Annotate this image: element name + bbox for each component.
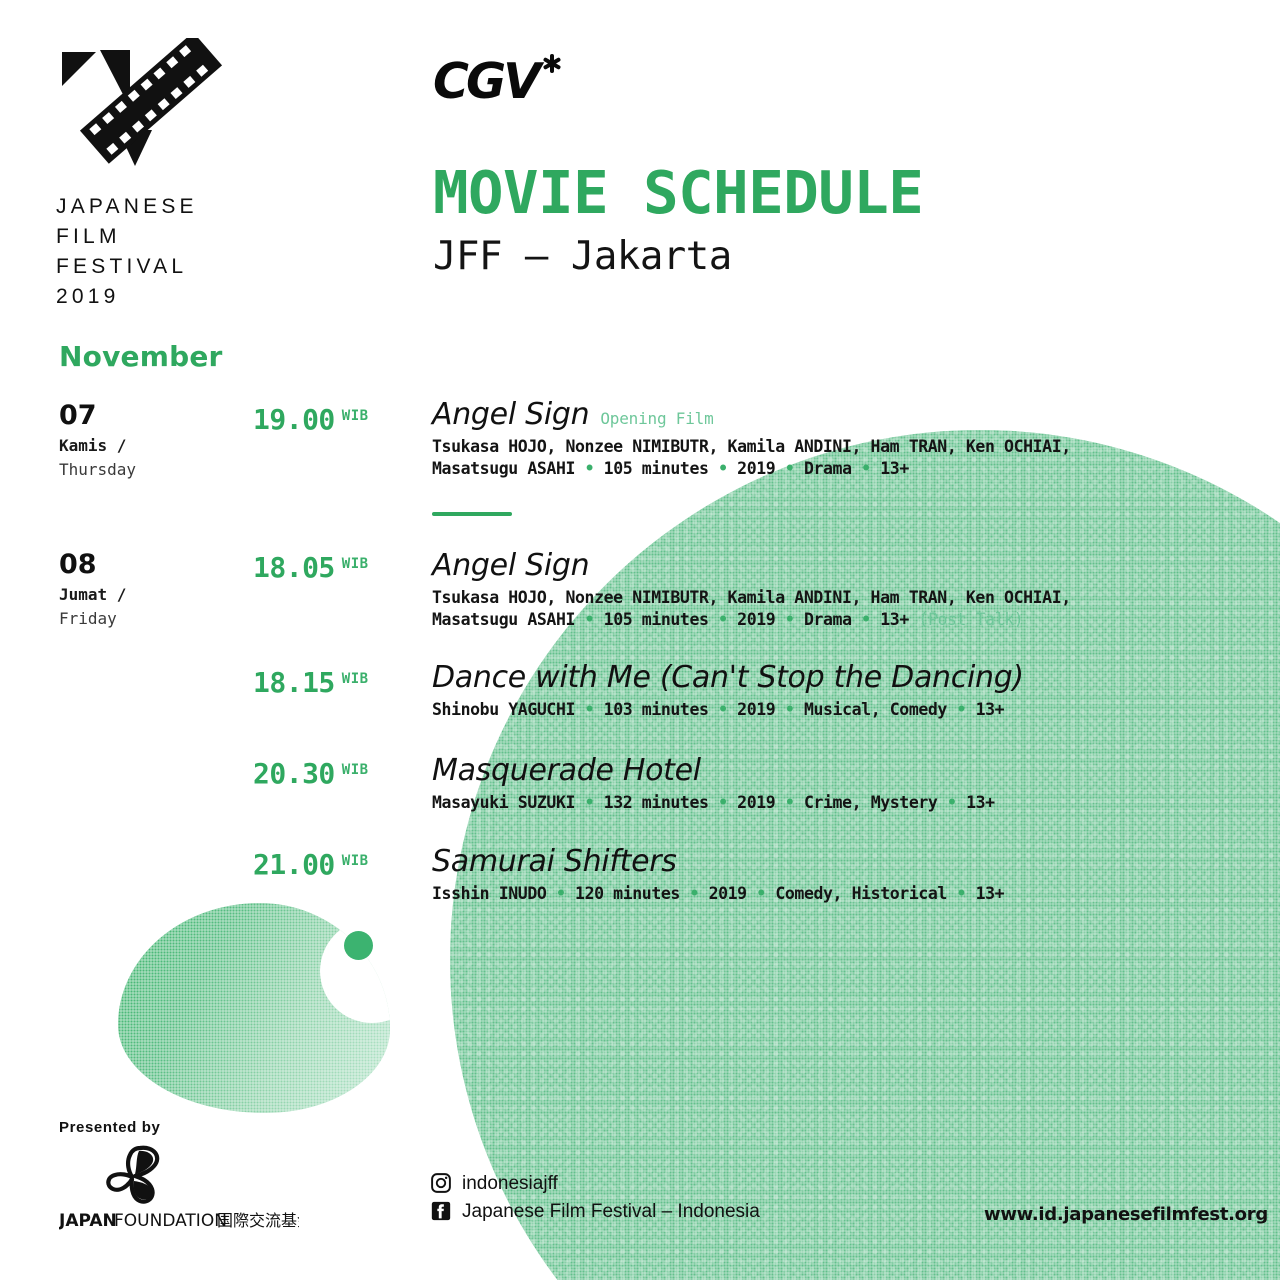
- screening-entry-08-1: Angel Sign Tsukasa HOJO, Nonzee NIMIBUTR…: [432, 549, 1072, 632]
- svg-text:JAPAN: JAPAN: [59, 1211, 117, 1231]
- screening-entry-08-2: Dance with Me (Can't Stop the Dancing) S…: [432, 661, 1072, 721]
- svg-text:CGV: CGV: [433, 53, 545, 110]
- film-meta-genre: Crime, Mystery: [804, 793, 937, 812]
- social-links: indonesiajff Japanese Film Festival – In…: [430, 1172, 760, 1228]
- japan-foundation-logo: JAPAN FOUNDATION 国際交流基金: [59, 1145, 299, 1231]
- japan-foundation-wordmark: JAPAN FOUNDATION 国際交流基金: [59, 1209, 299, 1231]
- month-heading: November: [59, 340, 223, 373]
- timezone-label: WIB: [342, 556, 369, 572]
- screening-entry-07-1: Angel SignOpening Film Tsukasa HOJO, Non…: [432, 398, 1072, 481]
- film-meta-duration: 105 minutes: [604, 459, 709, 478]
- instagram-handle[interactable]: indonesiajff: [462, 1174, 558, 1193]
- film-meta-genre: Drama: [804, 610, 852, 629]
- timezone-label: WIB: [342, 408, 369, 424]
- film-title: Masquerade Hotel: [432, 753, 701, 788]
- screening-time-08-1: 18.05WIB: [253, 551, 369, 584]
- website-url[interactable]: www.id.japanesefilmfest.org: [984, 1204, 1268, 1225]
- film-note-post-talk: (Post Talk): [918, 610, 1023, 629]
- meta-separator: •: [785, 459, 795, 478]
- film-credits-line: Tsukasa HOJO, Nonzee NIMIBUTR, Kamila AN…: [432, 436, 1072, 482]
- facebook-row[interactable]: Japanese Film Festival – Indonesia: [430, 1200, 760, 1222]
- instagram-icon[interactable]: [430, 1172, 452, 1194]
- meta-separator: •: [718, 793, 728, 812]
- day-block-08: 08 Jumat / Friday: [59, 551, 126, 631]
- meta-separator: •: [585, 793, 595, 812]
- meta-separator: •: [556, 884, 566, 903]
- film-meta-rating: 13+: [880, 459, 909, 478]
- meta-separator: •: [785, 793, 795, 812]
- time-value: 18.05: [253, 551, 335, 584]
- cgv-logo-icon: CGV: [433, 50, 567, 114]
- meta-separator: •: [585, 610, 595, 629]
- meta-separator: •: [861, 459, 871, 478]
- meta-separator: •: [689, 884, 699, 903]
- film-credits-line: Masayuki SUZUKI • 132 minutes • 2019 • C…: [432, 792, 1072, 815]
- meta-separator: •: [785, 610, 795, 629]
- page-title: MOVIE SCHEDULE: [433, 163, 923, 222]
- film-meta-duration: 105 minutes: [604, 610, 709, 629]
- time-value: 20.30: [253, 757, 335, 790]
- day-divider: [432, 512, 512, 516]
- page-subtitle: JFF – Jakarta: [433, 236, 732, 279]
- meta-separator: •: [785, 700, 795, 719]
- meta-separator: •: [957, 700, 967, 719]
- screening-time-08-3: 20.30WIB: [253, 757, 369, 790]
- film-meta-genre: Comedy, Historical: [775, 884, 947, 903]
- meta-separator: •: [947, 793, 957, 812]
- logo-line-festival: FESTIVAL: [56, 252, 286, 282]
- meta-separator: •: [718, 610, 728, 629]
- screening-entry-08-3: Masquerade Hotel Masayuki SUZUKI • 132 m…: [432, 754, 1072, 814]
- film-meta-director: Isshin INUDO: [432, 884, 546, 903]
- meta-separator: •: [861, 610, 871, 629]
- meta-separator: •: [957, 884, 967, 903]
- film-meta-year: 2019: [737, 793, 775, 812]
- film-meta-director: Masayuki SUZUKI: [432, 793, 575, 812]
- presented-by-label: Presented by: [59, 1119, 160, 1136]
- meta-separator: •: [718, 700, 728, 719]
- film-credits: Tsukasa HOJO, Nonzee NIMIBUTR, Kamila AN…: [432, 437, 1071, 456]
- instagram-row[interactable]: indonesiajff: [430, 1172, 760, 1194]
- film-title: Samurai Shifters: [432, 844, 677, 879]
- film-title: Dance with Me (Can't Stop the Dancing): [432, 660, 1024, 695]
- logo-line-year: 2019: [56, 282, 286, 312]
- screening-time-07-1: 19.00WIB: [253, 403, 369, 436]
- day-name-local: Kamis /: [59, 434, 136, 458]
- logo-line-film: FILM: [56, 222, 286, 252]
- meta-separator: •: [756, 884, 766, 903]
- time-value: 19.00: [253, 403, 335, 436]
- timezone-label: WIB: [342, 853, 369, 869]
- svg-text:国際交流基金: 国際交流基金: [217, 1211, 299, 1230]
- film-credits-line: Isshin INUDO • 120 minutes • 2019 • Come…: [432, 883, 1072, 906]
- time-value: 18.15: [253, 666, 335, 699]
- film-meta-rating: 13+: [880, 610, 909, 629]
- screening-time-08-4: 21.00WIB: [253, 848, 369, 881]
- meta-separator: •: [718, 459, 728, 478]
- film-title: Angel Sign: [432, 397, 589, 432]
- film-meta-rating: 13+: [976, 884, 1005, 903]
- origami-crane-film-strip-icon: [56, 38, 226, 166]
- festival-logo-wordmark: JAPANESE FILM FESTIVAL 2019: [56, 192, 286, 312]
- facebook-icon[interactable]: [430, 1200, 452, 1222]
- day-name-english: Friday: [59, 607, 126, 630]
- film-meta-director: Masatsugu ASAHI: [432, 610, 575, 629]
- film-meta-duration: 132 minutes: [604, 793, 709, 812]
- film-meta-year: 2019: [709, 884, 747, 903]
- film-title: Angel Sign: [432, 548, 589, 583]
- film-meta-rating: 13+: [976, 700, 1005, 719]
- time-value: 21.00: [253, 848, 335, 881]
- screening-time-08-2: 18.15WIB: [253, 666, 369, 699]
- film-meta-year: 2019: [737, 610, 775, 629]
- day-name-local: Jumat /: [59, 583, 126, 607]
- timezone-label: WIB: [342, 762, 369, 778]
- film-meta-genre: Musical, Comedy: [804, 700, 947, 719]
- butterfly-icon: [99, 1145, 173, 1207]
- movie-schedule-poster: JAPANESE FILM FESTIVAL 2019 CGV MOVIE SC…: [0, 0, 1280, 1280]
- facebook-page-name[interactable]: Japanese Film Festival – Indonesia: [462, 1202, 760, 1221]
- cgv-logo: CGV: [433, 50, 567, 114]
- day-name-english: Thursday: [59, 458, 136, 481]
- logo-line-japanese: JAPANESE: [56, 192, 286, 222]
- film-credits-line: Tsukasa HOJO, Nonzee NIMIBUTR, Kamila AN…: [432, 587, 1072, 633]
- film-meta-year: 2019: [737, 700, 775, 719]
- film-meta-director: Masatsugu ASAHI: [432, 459, 575, 478]
- film-meta-duration: 120 minutes: [575, 884, 680, 903]
- screening-entry-08-4: Samurai Shifters Isshin INUDO • 120 minu…: [432, 845, 1072, 905]
- meta-separator: •: [585, 459, 595, 478]
- timezone-label: WIB: [342, 671, 369, 687]
- film-tag-opening: Opening Film: [600, 409, 713, 428]
- meta-separator: •: [585, 700, 595, 719]
- svg-text:FOUNDATION: FOUNDATION: [114, 1211, 227, 1231]
- day-number: 07: [59, 402, 136, 430]
- film-meta-director: Shinobu YAGUCHI: [432, 700, 575, 719]
- film-meta-duration: 103 minutes: [604, 700, 709, 719]
- festival-logo: JAPANESE FILM FESTIVAL 2019: [56, 38, 286, 312]
- film-credits-line: Shinobu YAGUCHI • 103 minutes • 2019 • M…: [432, 699, 1072, 722]
- day-block-07: 07 Kamis / Thursday: [59, 402, 136, 482]
- film-meta-year: 2019: [737, 459, 775, 478]
- day-number: 08: [59, 551, 126, 579]
- film-meta-genre: Drama: [804, 459, 852, 478]
- film-credits: Tsukasa HOJO, Nonzee NIMIBUTR, Kamila AN…: [432, 588, 1071, 607]
- film-meta-rating: 13+: [966, 793, 995, 812]
